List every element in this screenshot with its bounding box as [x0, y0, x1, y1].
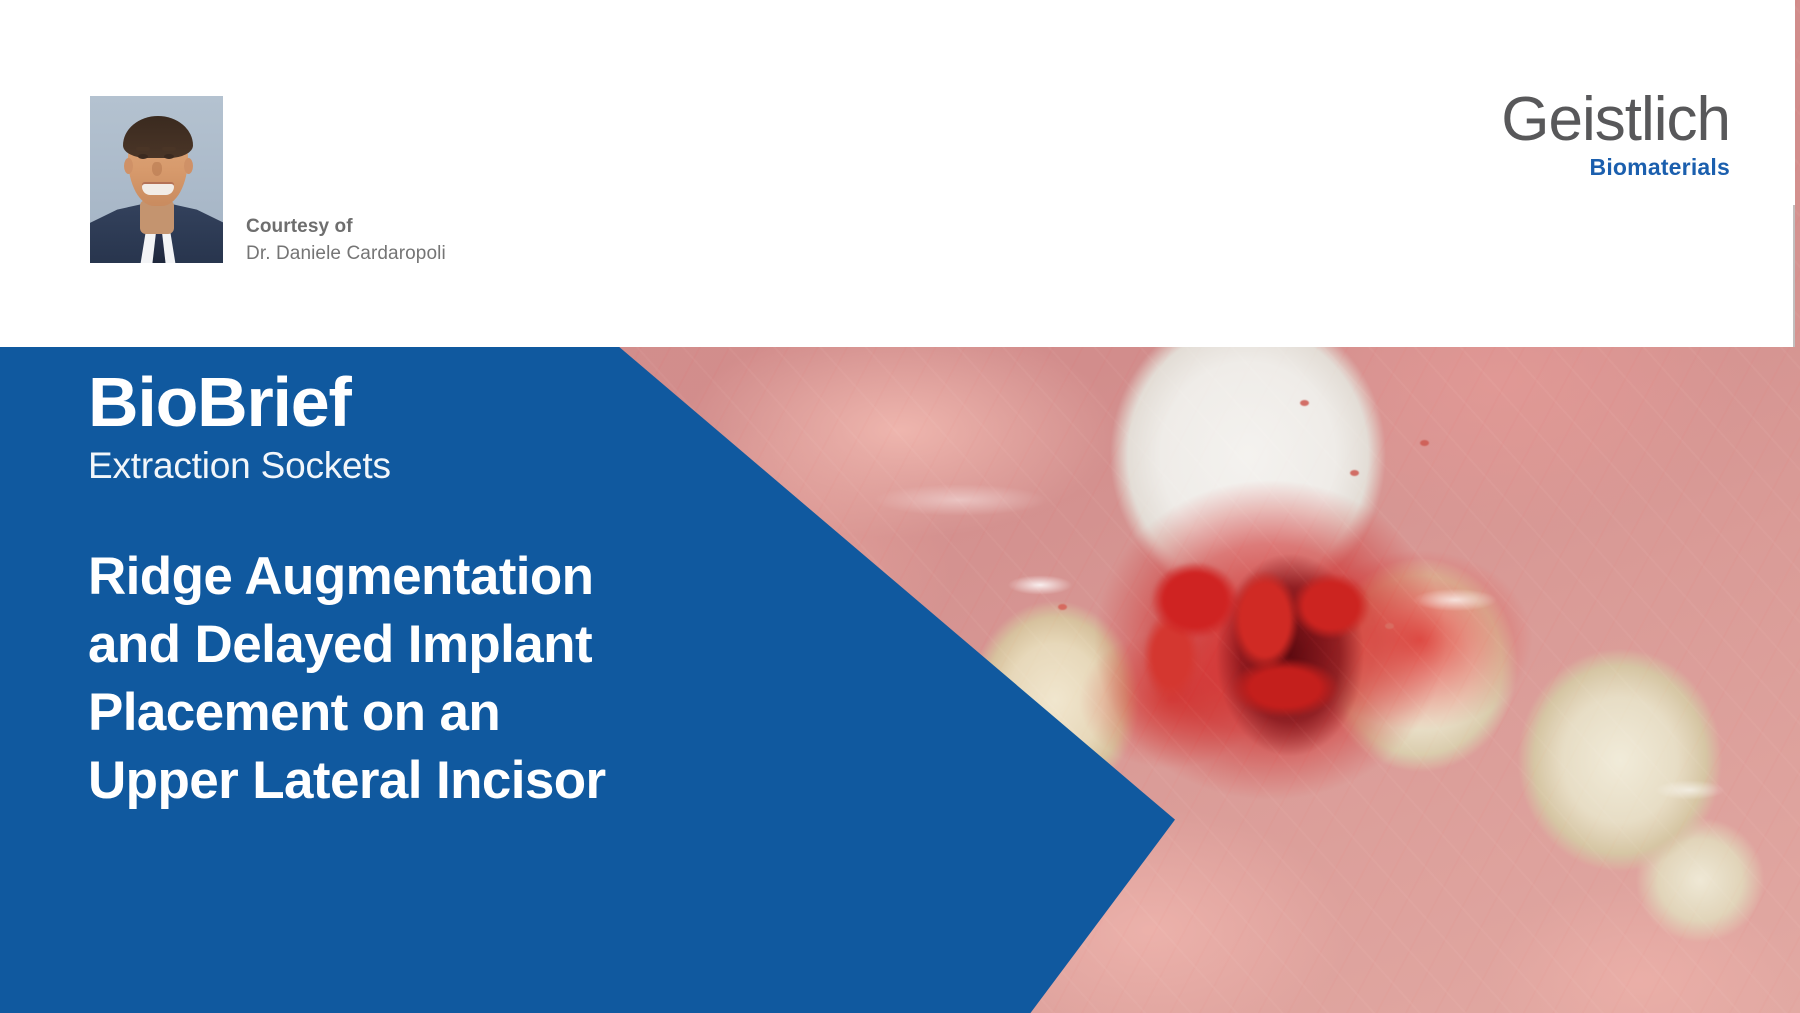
portrait-mouth [142, 184, 174, 195]
portrait-ear-right [184, 158, 193, 174]
series-topic: Extraction Sockets [88, 441, 788, 491]
portrait-brow-left [136, 147, 150, 151]
portrait-brow-right [162, 147, 176, 151]
page-title-line: and Delayed Implant [88, 611, 788, 679]
portrait-nose [152, 162, 162, 176]
series-title: BioBrief [88, 365, 788, 439]
portrait-eye-left [138, 154, 148, 159]
page-title-line: Upper Lateral Incisor [88, 747, 788, 815]
portrait-eye-right [164, 154, 174, 159]
cover-title-block: BioBrief Extraction Sockets Ridge Augmen… [88, 365, 788, 815]
page-title: Ridge Augmentation and Delayed Implant P… [88, 543, 788, 815]
author-name: Dr. Daniele Cardaropoli [246, 240, 446, 268]
portrait-ear-left [124, 158, 133, 174]
page-title-line: Ridge Augmentation [88, 543, 788, 611]
geistlich-logo: Geistlich Biomaterials [1501, 90, 1730, 182]
avatar [90, 96, 223, 263]
biobrief-cover-page: Courtesy of Dr. Daniele Cardaropoli Geis… [0, 0, 1800, 1013]
courtesy-credit: Courtesy of Dr. Daniele Cardaropoli [246, 214, 446, 268]
logo-tagline-text: Biomaterials [1501, 152, 1730, 182]
logo-brand-text: Geistlich [1501, 90, 1730, 150]
courtesy-label: Courtesy of [246, 214, 446, 240]
page-title-line: Placement on an [88, 679, 788, 747]
